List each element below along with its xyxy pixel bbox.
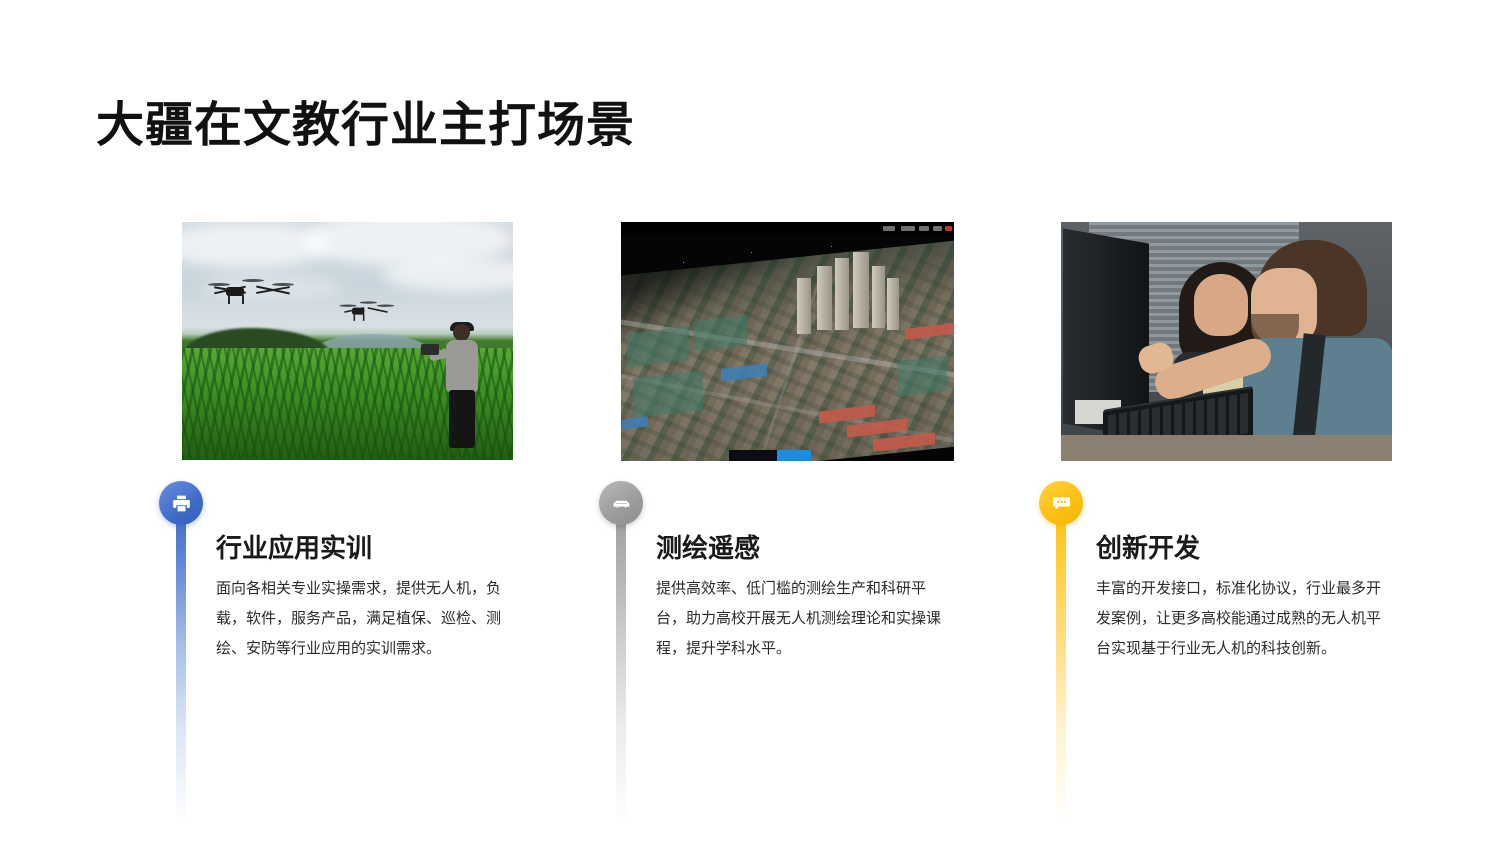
viewer-status-bar <box>729 450 777 461</box>
card-industry-application-training[interactable]: 行业应用实训 面向各相关专业实操需求，提供无人机，负载，软件，服务产品，满足植保… <box>150 0 590 844</box>
pin-stem <box>1056 503 1066 823</box>
card-description: 面向各相关专业实操需求，提供无人机，负载，软件，服务产品，满足植保、巡检、测绘、… <box>216 574 506 664</box>
model-viewer-toolbar <box>621 222 954 235</box>
card-description: 提供高效率、低门槛的测绘生产和科研平台，助力高校开展无人机测绘理论和实操课程，提… <box>656 574 946 664</box>
card-surveying-remote-sensing[interactable]: 测绘遥感 提供高效率、低门槛的测绘生产和科研平台，助力高校开展无人机测绘理论和实… <box>590 0 1030 844</box>
printer-icon <box>159 481 203 525</box>
sofa-icon <box>599 481 643 525</box>
card-image-drone-field <box>182 222 513 460</box>
cards-container: 行业应用实训 面向各相关专业实操需求，提供无人机，负载，软件，服务产品，满足植保… <box>0 0 1500 844</box>
card-title: 测绘遥感 <box>656 532 760 564</box>
chat-bubble-icon <box>1039 481 1083 525</box>
card-title: 行业应用实训 <box>216 532 372 564</box>
desk-surface <box>1061 435 1392 461</box>
pin-stem <box>176 503 186 823</box>
slide-root: 大疆在文教行业主打场景 <box>0 0 1500 844</box>
viewer-action-button[interactable] <box>777 450 811 461</box>
drone-operator <box>441 324 485 460</box>
card-description: 丰富的开发接口，标准化协议，行业最多开发案例，让更多高校能通过成熟的无人机平台实… <box>1096 574 1386 664</box>
pin-stem <box>616 503 626 823</box>
drone-large <box>212 280 292 306</box>
card-image-office-collaboration <box>1061 222 1392 461</box>
card-innovation-development[interactable]: 创新开发 丰富的开发接口，标准化协议，行业最多开发案例，让更多高校能通过成熟的无… <box>1030 0 1470 844</box>
card-image-3d-city-model <box>621 222 954 461</box>
drone-small <box>344 302 388 318</box>
card-title: 创新开发 <box>1096 532 1200 564</box>
